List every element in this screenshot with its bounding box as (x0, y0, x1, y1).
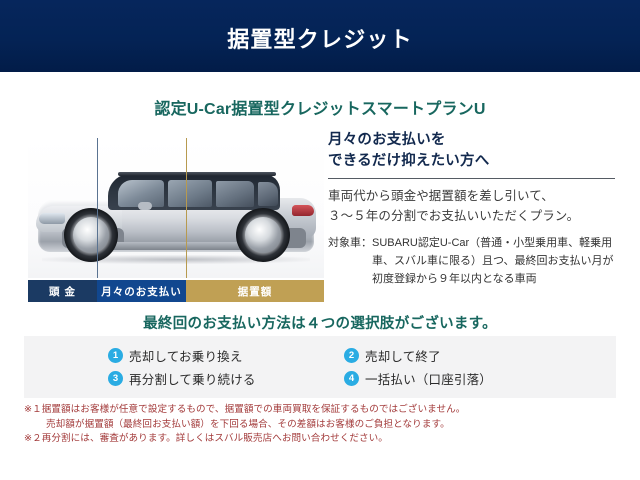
footnote-2-line1: 再分割には、審査があります。詳しくはスバル販売店へお問い合わせください。 (42, 432, 624, 447)
segment-divider-1 (97, 138, 98, 278)
eligible-vehicles-body: SUBARU認定U-Car（普通・小型乗用車、軽乗用車、スバル車に限る）且つ、最… (372, 234, 620, 288)
vehicle-front-wheel (64, 208, 118, 262)
option-number-badge: 4 (344, 371, 359, 386)
plan-description-column: 月々のお支払いを できるだけ抑えたい方へ 車両代から頭金や据置額を差し引いて、 … (328, 130, 620, 288)
option-number-badge: 3 (108, 371, 123, 386)
plan-benefit-heading: 月々のお支払いを できるだけ抑えたい方へ (328, 130, 620, 172)
car-photo (28, 138, 324, 278)
page-title: 据置型クレジット (0, 22, 640, 54)
eligible-vehicles-note: 対象車： SUBARU認定U-Car（普通・小型乗用車、軽乗用車、スバル車に限る… (328, 234, 620, 288)
option-item-1[interactable]: 1 売却してお乗り換え (108, 344, 344, 367)
vehicle-rear-wheel (236, 208, 290, 262)
footnote-1-mark: ※１ (24, 403, 42, 418)
footnote-1-line1: 据置額はお客様が任意で設定するもので、据置額での車両買取を保証するものではござい… (42, 403, 624, 418)
vehicle-window-rear (216, 181, 254, 207)
option-item-3[interactable]: 3 再分割して乗り続ける (108, 367, 344, 390)
promo-page: 据置型クレジット 認定U-Car据置型クレジットスマートプランU (0, 0, 640, 480)
footnote-2-mark: ※２ (24, 432, 42, 447)
payment-legend-bar: 頭 金 月々のお支払い 据置額 (28, 280, 324, 302)
option-label: 売却して終了 (365, 346, 441, 365)
plan-title: 認定U-Car据置型クレジットスマートプランU (0, 95, 640, 119)
legend-segment-monthly: 月々のお支払い (97, 280, 186, 302)
footnote-1-line2: 売却額が据置額（最終回お支払い額）を下回る場合、その差額はお客様のご負担となりま… (24, 418, 624, 433)
segment-divider-2 (186, 138, 187, 278)
footnotes: ※１ 据置額はお客様が任意で設定するもので、据置額での車両買取を保証するものでは… (24, 403, 624, 447)
option-label: 売却してお乗り換え (129, 346, 243, 365)
plan-benefit-heading-line2: できるだけ抑えたい方へ (328, 151, 620, 172)
plan-description-line2: ３〜５年の分割でお支払いいただくプラン。 (328, 206, 620, 226)
final-payment-options-heading: 最終回のお支払い方法は４つの選択肢がございます。 (0, 312, 640, 333)
final-payment-options-box: 1 売却してお乗り換え 2 売却して終了 3 再分割して乗り続ける 4 一括払い… (24, 336, 616, 398)
option-number-badge: 1 (108, 348, 123, 363)
option-label: 再分割して乗り続ける (129, 369, 256, 388)
option-item-2[interactable]: 2 売却して終了 (344, 344, 578, 367)
vehicle-headlight (39, 213, 65, 224)
footnote-1: ※１ 据置額はお客様が任意で設定するもので、据置額での車両買取を保証するものでは… (24, 403, 624, 418)
vehicle-window-mid (168, 180, 212, 207)
suv-vehicle-graphic (34, 158, 318, 262)
plan-description-text: 車両代から頭金や据置額を差し引いて、 ３〜５年の分割でお支払いいただくプラン。 (328, 186, 620, 226)
legend-segment-residual: 据置額 (186, 280, 324, 302)
vehicle-taillight (292, 205, 314, 216)
option-label: 一括払い（口座引落） (365, 369, 492, 388)
vehicle-roof-rail (118, 172, 276, 176)
footnote-2: ※２ 再分割には、審査があります。詳しくはスバル販売店へお問い合わせください。 (24, 432, 624, 447)
option-number-badge: 2 (344, 348, 359, 363)
vehicle-window-quarter (258, 182, 278, 206)
option-item-4[interactable]: 4 一括払い（口座引落） (344, 367, 578, 390)
page-header-bar: 据置型クレジット (0, 0, 640, 72)
car-illustration: 頭 金 月々のお支払い 据置額 (28, 138, 324, 302)
eligible-vehicles-label: 対象車： (328, 234, 372, 288)
plan-description-line1: 車両代から頭金や据置額を差し引いて、 (328, 186, 620, 206)
options-grid: 1 売却してお乗り換え 2 売却して終了 3 再分割して乗り続ける 4 一括払い… (108, 344, 578, 390)
legend-segment-downpayment: 頭 金 (28, 280, 97, 302)
vehicle-side-mirror (138, 202, 152, 210)
plan-benefit-heading-line1: 月々のお支払いを (328, 130, 620, 151)
heading-divider-rule (328, 178, 615, 179)
